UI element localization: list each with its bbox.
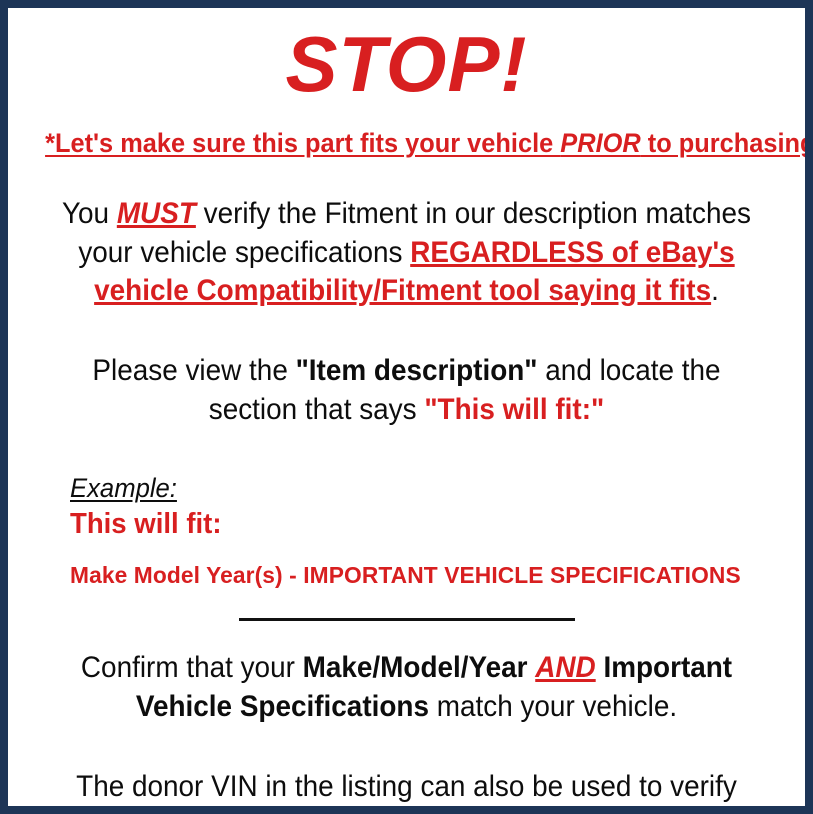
notice-content: STOP! *Let's make sure this part fits yo… — [8, 8, 805, 806]
locate-lead: Please view the — [92, 354, 295, 387]
confirm-lead: Confirm that your — [81, 651, 303, 684]
tagline-emphasis-prior: PRIOR — [560, 128, 640, 158]
tagline-part2: to purchasing* — [641, 128, 813, 158]
horizontal-divider — [239, 618, 575, 621]
tagline-part1: *Let's make sure this part fits your veh… — [45, 128, 560, 158]
example-label: Example: — [70, 473, 177, 504]
fitment-notice-banner: STOP! *Let's make sure this part fits yo… — [0, 0, 813, 814]
stop-headline: STOP! — [22, 8, 791, 106]
locate-this-will-fit: "This will fit:" — [424, 393, 604, 426]
confirm-and-emphasis: AND — [535, 651, 595, 684]
locate-item-description: "Item description" — [296, 354, 538, 387]
verify-tail: . — [711, 274, 719, 307]
confirm-make-model-year: Make/Model/Year — [303, 651, 528, 684]
paragraph-donor-vin: The donor VIN in the listing can also be… — [49, 768, 764, 814]
confirm-tail: match your vehicle. — [429, 690, 677, 723]
example-spec-line: Make Model Year(s) - IMPORTANT VEHICLE S… — [70, 562, 784, 589]
example-block: Example: This will fit: Make Model Year(… — [22, 473, 791, 589]
paragraph-verify-fitment: You MUST verify the Fitment in our descr… — [49, 195, 764, 310]
paragraph-confirm-match: Confirm that your Make/Model/Year AND Im… — [49, 649, 764, 726]
divider-wrapper — [22, 617, 791, 621]
verify-must-emphasis: MUST — [117, 197, 196, 230]
paragraph-locate-section: Please view the "Item description" and l… — [49, 352, 764, 429]
example-fit-heading: This will fit: — [70, 508, 755, 541]
tagline: *Let's make sure this part fits your veh… — [45, 128, 768, 159]
verify-lead: You — [62, 197, 117, 230]
